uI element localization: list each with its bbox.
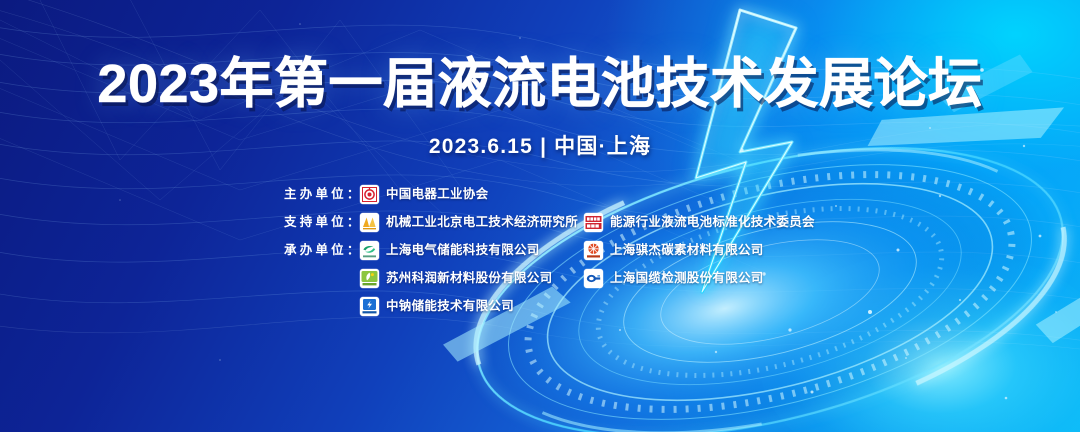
org-name: 苏州科润新材料股份有限公司 — [386, 269, 552, 288]
machinery-institute-icon — [360, 213, 379, 232]
standards-committee-icon — [584, 213, 603, 232]
credit-label-host: 主办单位： — [284, 184, 360, 205]
org-item: 苏州科润新材料股份有限公司 — [360, 268, 584, 289]
credits-block: 主办单位： — [284, 184, 844, 324]
org-item: 上海电气储能科技有限公司 — [360, 240, 584, 261]
zhongna-energy-icon — [360, 297, 379, 316]
org-name: 能源行业液流电池标准化技术委员会 — [610, 213, 815, 232]
credit-row-host: 主办单位： — [284, 184, 844, 205]
cei-emblem-icon — [360, 185, 379, 204]
event-date-location: 2023.6.15 | 中国·上海 — [0, 130, 1080, 160]
org-name: 机械工业北京电工技术经济研究所 — [386, 213, 578, 232]
org-item: 上海骐杰碳素材料有限公司 — [584, 240, 844, 261]
org-item: 能源行业液流电池标准化技术委员会 — [584, 212, 844, 233]
org-item: 上海国缆检测股份有限公司 — [584, 268, 844, 289]
qijie-carbon-icon — [584, 241, 603, 260]
org-name: 上海国缆检测股份有限公司 — [610, 269, 764, 288]
kerun-materials-icon — [360, 269, 379, 288]
org-name: 中国电器工业协会 — [386, 185, 488, 204]
credit-label-organizer: 承办单位： — [284, 240, 360, 261]
credit-label-support: 支持单位： — [284, 212, 360, 233]
org-item: 中钠储能技术有限公司 — [360, 296, 584, 317]
org-name: 中钠储能技术有限公司 — [386, 297, 514, 316]
conference-banner: 2023年第一届液流电池技术发展论坛 2023.6.15 | 中国·上海 主办单… — [0, 0, 1080, 432]
credit-row-organizer: 承办单位： 上海电气储能 — [284, 240, 844, 317]
shanghai-electric-icon — [360, 241, 379, 260]
credit-row-support: 支持单位： 机械工业北京电 — [284, 212, 844, 233]
guolan-testing-icon — [584, 269, 603, 288]
org-item: 机械工业北京电工技术经济研究所 — [360, 212, 584, 233]
org-name: 上海骐杰碳素材料有限公司 — [610, 241, 764, 260]
org-item: 中国电器工业协会 — [360, 184, 584, 205]
org-name: 上海电气储能科技有限公司 — [386, 241, 540, 260]
page-title: 2023年第一届液流电池技术发展论坛 — [0, 57, 1080, 111]
